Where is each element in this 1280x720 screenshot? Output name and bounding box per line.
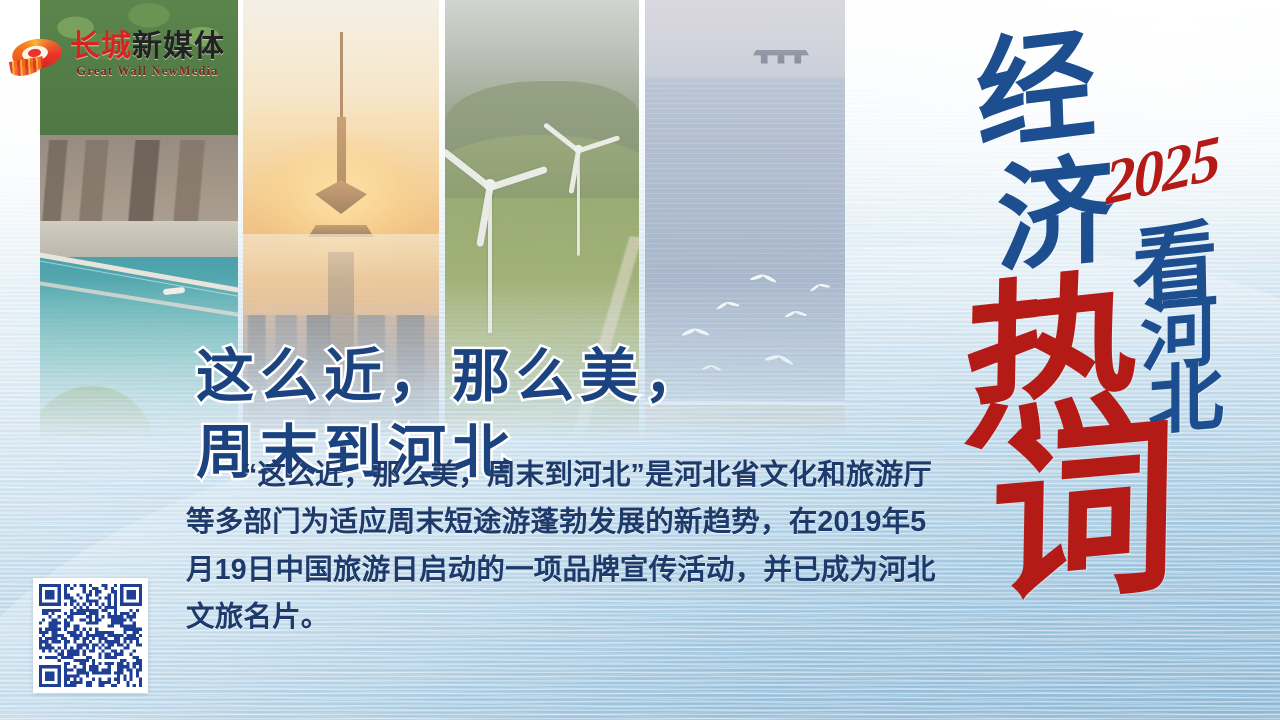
logo-cn-red: 长城 [70, 30, 132, 63]
logo-cn-black: 新媒体 [132, 30, 225, 63]
site-logo[interactable]: 长城新媒体 Great Wall NewMedia [10, 26, 225, 84]
description-paragraph: “这么近，那么美，周末到河北”是河北省文化和旅游厅等多部门为适应周末短途游蓬勃发… [186, 452, 938, 641]
offshore-platform-icon [753, 50, 809, 64]
qr-code[interactable] [33, 578, 148, 693]
logo-text: 长城新媒体 Great Wall NewMedia [70, 32, 225, 79]
calligraphy-char-jing: 经 [974, 24, 1097, 159]
logo-english-name: Great Wall NewMedia [70, 64, 225, 79]
logo-chinese-name: 长城新媒体 [70, 32, 225, 62]
great-wall-swoosh-icon [10, 35, 64, 75]
calligraphy-char-ci: 词 [989, 413, 1180, 618]
poster-canvas: 长城新媒体 Great Wall NewMedia 这么近，那么美， 周末到河北… [0, 0, 1280, 720]
qr-code-image [39, 584, 142, 687]
calligraphy-year-2025: 2025 [1105, 126, 1219, 215]
series-title-calligraphy: 经 济 2025 看 河 北 热 词 [962, 10, 1262, 630]
headline-line-1: 这么近，那么美， [196, 344, 708, 409]
